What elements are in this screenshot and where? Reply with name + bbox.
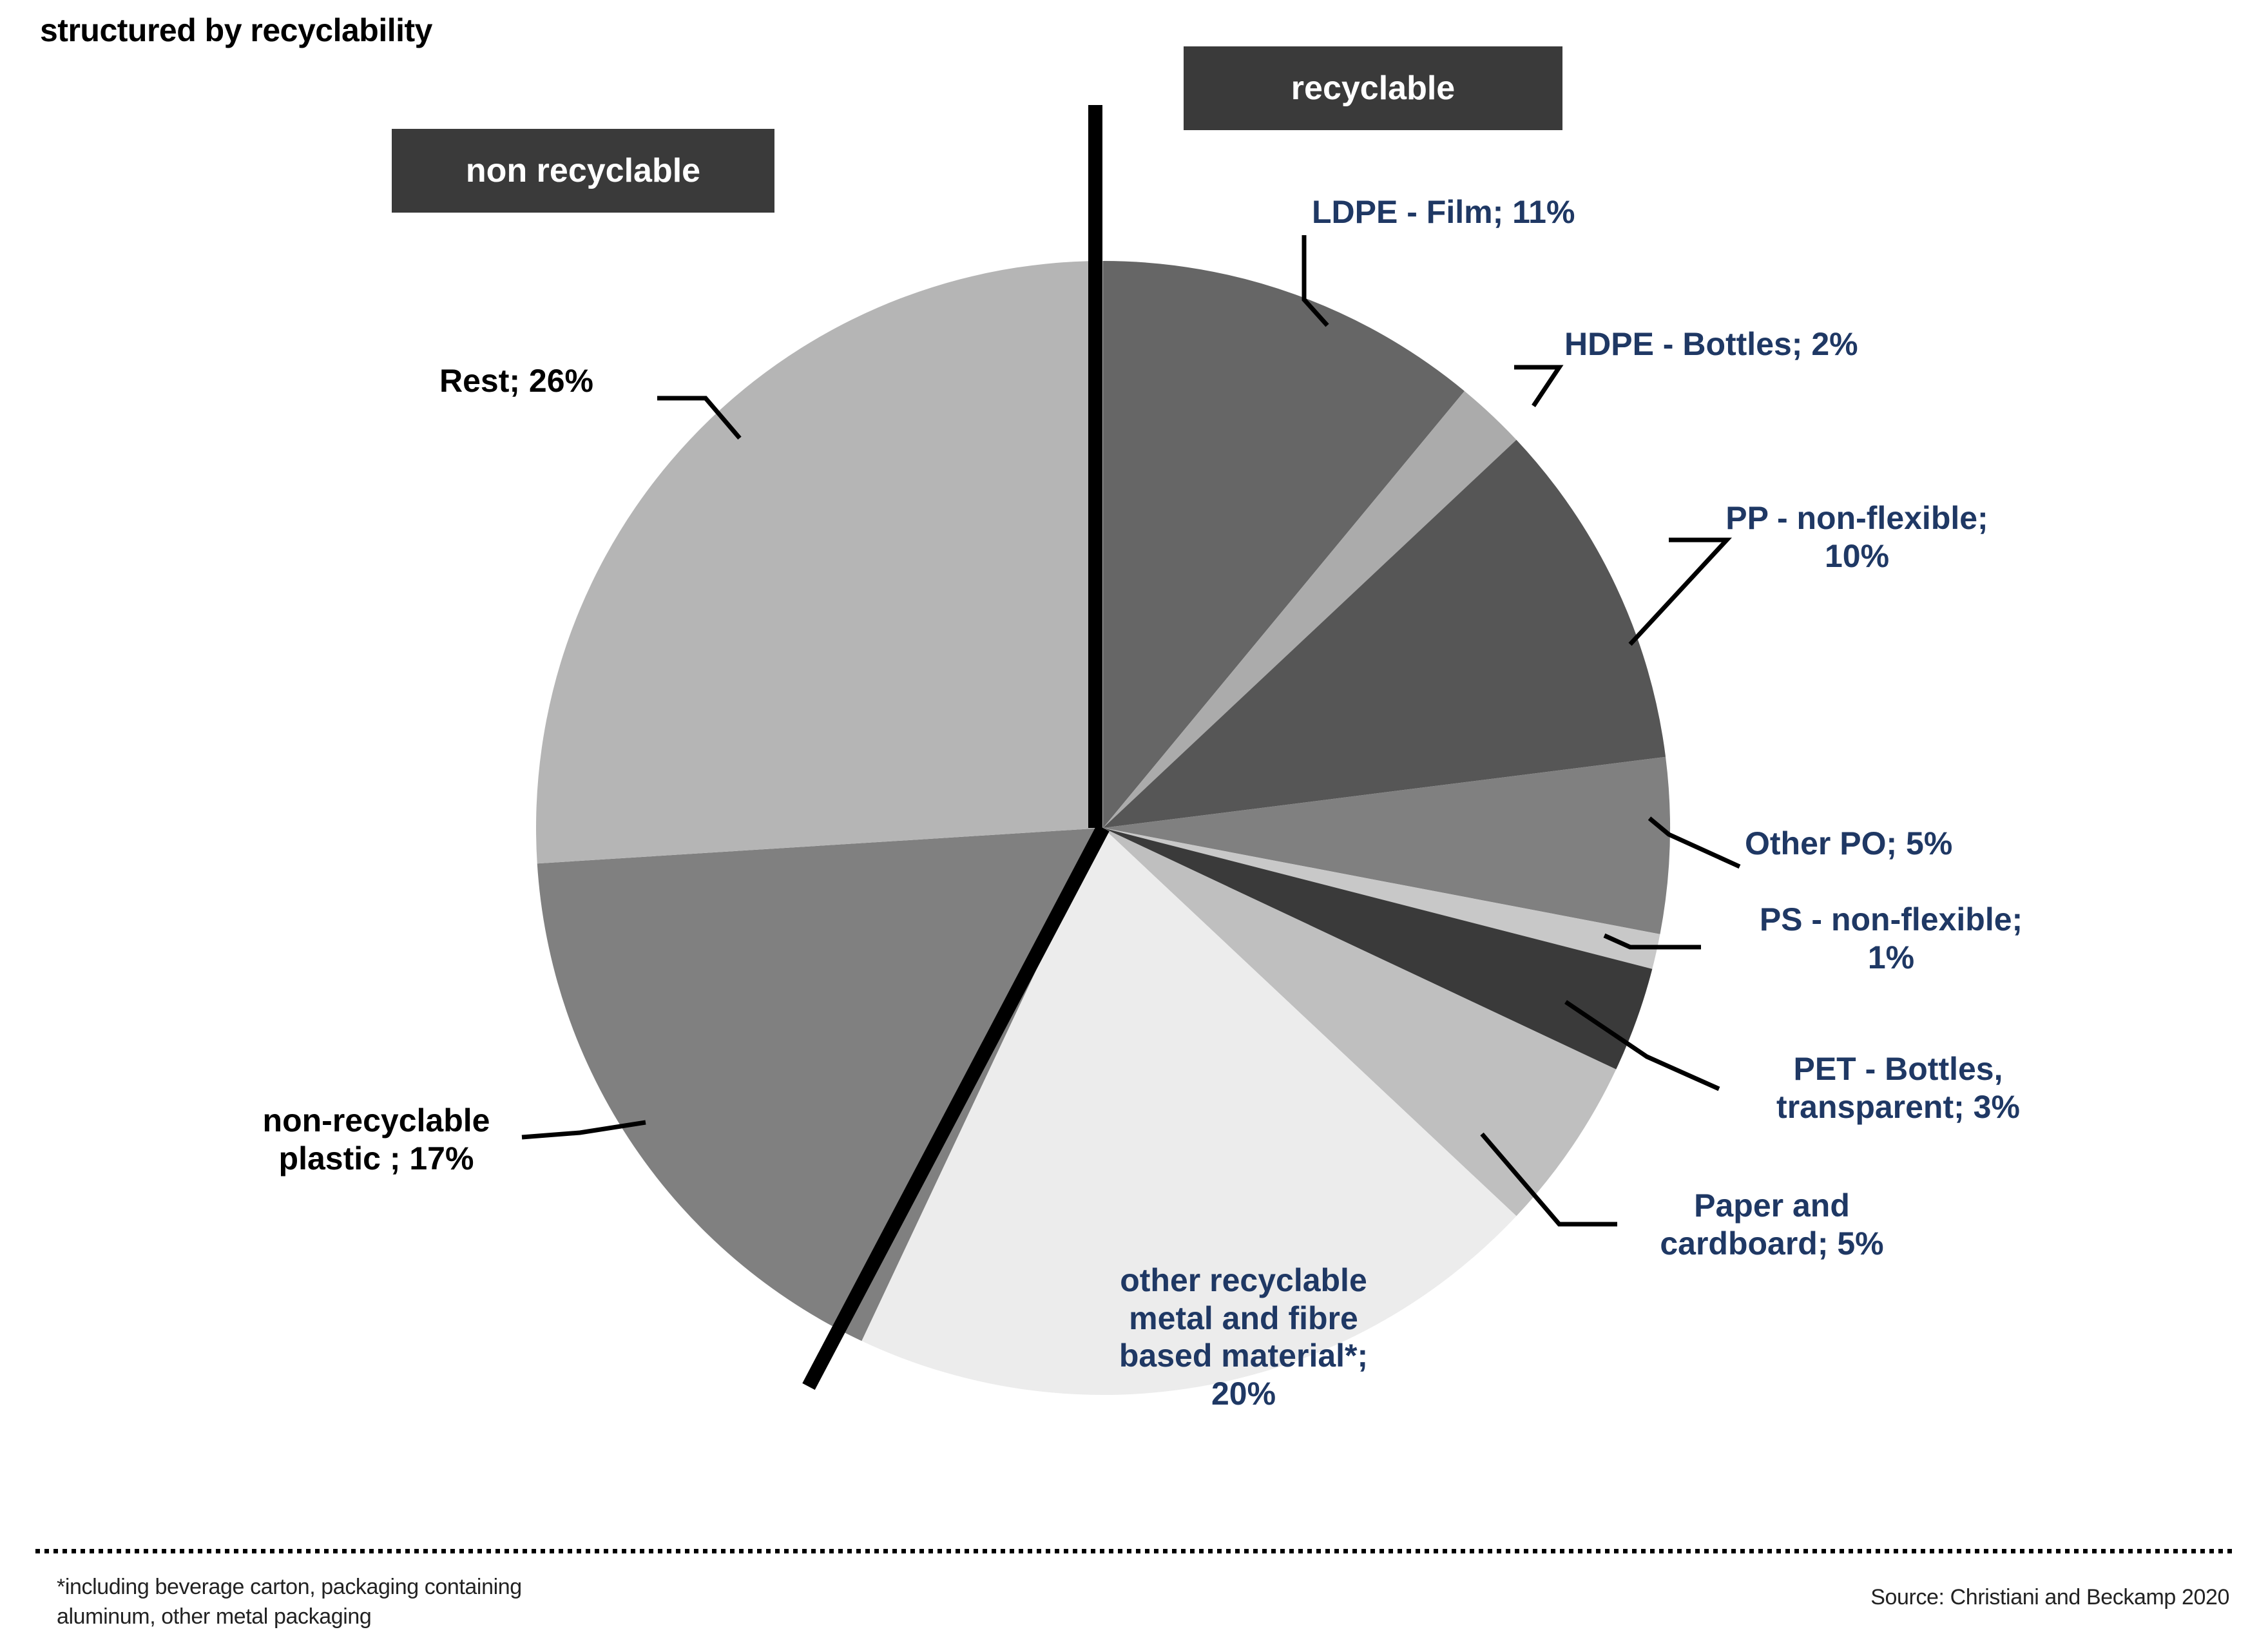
slice-label-hdpe: HDPE - Bottles; 2% bbox=[1564, 325, 1858, 363]
footnote-text: *including beverage carton, packaging co… bbox=[57, 1572, 522, 1631]
slice-label-paper: Paper and cardboard; 5% bbox=[1611, 1187, 1933, 1262]
slice-label-rest: Rest; 26% bbox=[439, 362, 593, 400]
leader-line-hdpe bbox=[1514, 367, 1559, 406]
slice-label-other-recyclable: other recyclable metal and fibre based m… bbox=[1060, 1262, 1427, 1412]
slice-label-pp: PP - non-flexible; 10% bbox=[1677, 499, 2037, 575]
slice-label-non-recyclable-plastic: non-recyclable plastic ; 17% bbox=[213, 1102, 540, 1177]
slice-label-pet: PET - Bottles, transparent; 3% bbox=[1724, 1050, 2072, 1126]
slice-label-other-po: Other PO; 5% bbox=[1745, 825, 1952, 863]
slice-label-ps: PS - non-flexible; 1% bbox=[1711, 901, 2071, 976]
slice-label-ldpe: LDPE - Film; 11% bbox=[1312, 193, 1575, 231]
source-text: Source: Christiani and Beckamp 2020 bbox=[1870, 1585, 2229, 1610]
footer-divider bbox=[35, 1549, 2236, 1553]
slide-canvas: structured by recyclability non recyclab… bbox=[0, 0, 2268, 1652]
pie-slice bbox=[536, 261, 1103, 863]
